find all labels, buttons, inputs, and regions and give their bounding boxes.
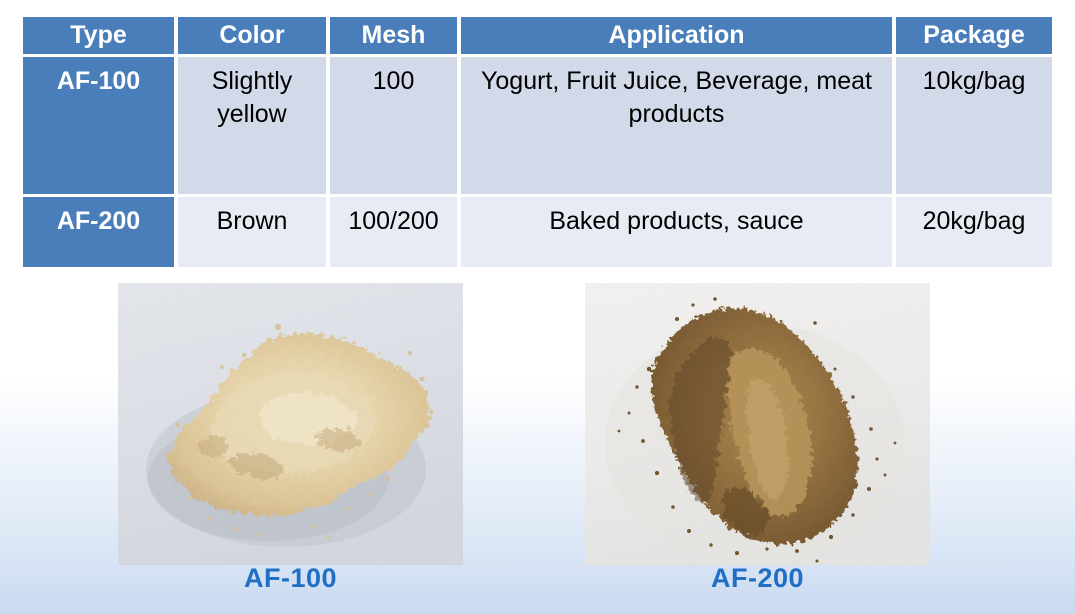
cell-package-af200: 20kg/bag — [896, 197, 1052, 267]
product-photo-af100 — [118, 283, 463, 565]
photo-af200-graphic — [585, 283, 930, 565]
cell-application-af100: Yogurt, Fruit Juice, Beverage, meat prod… — [461, 57, 892, 194]
column-header-type: Type — [23, 17, 174, 54]
table-row: AF-200 Brown 100/200 Baked products, sau… — [23, 197, 1052, 267]
table-header-row: Type Color Mesh Application Package — [23, 17, 1052, 54]
cell-type-af100: AF-100 — [23, 57, 174, 194]
cell-application-af200: Baked products, sauce — [461, 197, 892, 267]
cell-type-af200: AF-200 — [23, 197, 174, 267]
product-photo-af200 — [585, 283, 930, 565]
cell-color-af100: Slightly yellow — [178, 57, 326, 194]
cell-mesh-af200: 100/200 — [330, 197, 457, 267]
cell-mesh-af100: 100 — [330, 57, 457, 194]
column-header-color: Color — [178, 17, 326, 54]
column-header-package: Package — [896, 17, 1052, 54]
column-header-application: Application — [461, 17, 892, 54]
photo-caption-af200: AF-200 — [585, 563, 930, 594]
table-row: AF-100 Slightly yellow 100 Yogurt, Fruit… — [23, 57, 1052, 194]
photo-af100-graphic — [118, 283, 463, 565]
cell-package-af100: 10kg/bag — [896, 57, 1052, 194]
cell-color-af200: Brown — [178, 197, 326, 267]
column-header-mesh: Mesh — [330, 17, 457, 54]
product-spec-table: Type Color Mesh Application Package AF-1… — [19, 14, 1056, 270]
photo-caption-af100: AF-100 — [118, 563, 463, 594]
